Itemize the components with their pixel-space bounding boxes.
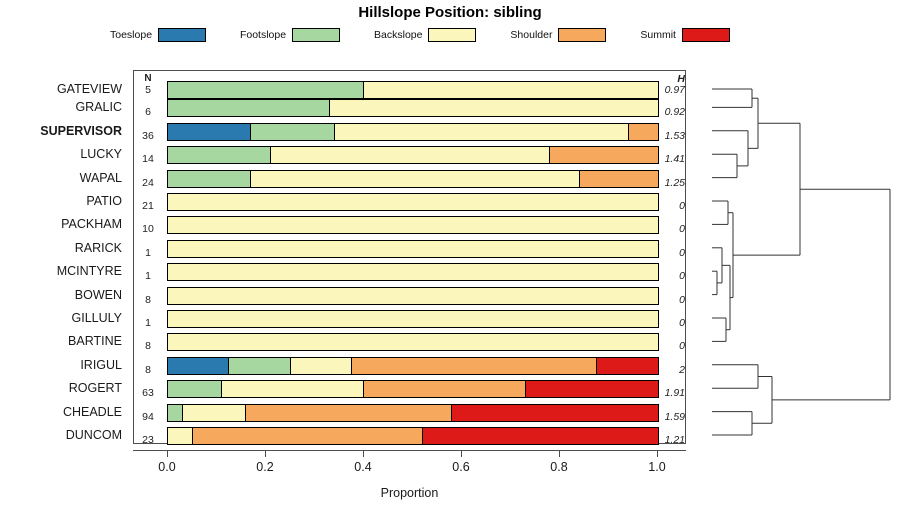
y-axis-label-supervisor: SUPERVISOR bbox=[40, 125, 122, 138]
y-axis-label-packham: PACKHAM bbox=[61, 218, 122, 231]
x-axis-title: Proportion bbox=[133, 486, 686, 500]
table-row: 141.41 bbox=[133, 143, 686, 166]
table-row: 100 bbox=[133, 213, 686, 236]
table-row: 60.92 bbox=[133, 96, 686, 119]
y-axis-label-rogert: ROGERT bbox=[69, 382, 122, 395]
row-count-value: 24 bbox=[133, 178, 163, 189]
table-row: 80 bbox=[133, 284, 686, 307]
row-count-value: 23 bbox=[133, 435, 163, 446]
stacked-bar[interactable] bbox=[167, 263, 659, 281]
bar-segment-backslope[interactable] bbox=[330, 100, 658, 116]
y-axis-label-bartine: BARTINE bbox=[68, 335, 122, 348]
bar-segment-toeslope[interactable] bbox=[168, 358, 229, 374]
y-axis-label-duncom: DUNCOM bbox=[66, 429, 122, 442]
chart-canvas: Hillslope Position: sibling Toeslope Foo… bbox=[0, 0, 900, 520]
table-row: 10 bbox=[133, 260, 686, 283]
stacked-bar[interactable] bbox=[167, 146, 659, 164]
legend: Toeslope Footslope Backslope Shoulder Su… bbox=[110, 26, 730, 44]
bar-segment-backslope[interactable] bbox=[168, 264, 658, 280]
x-axis-tick bbox=[363, 450, 364, 457]
row-count-value: 6 bbox=[133, 107, 163, 118]
stacked-bar[interactable] bbox=[167, 404, 659, 422]
row-count-value: 94 bbox=[133, 412, 163, 423]
legend-item-toeslope: Toeslope bbox=[110, 28, 206, 42]
stacked-bar[interactable] bbox=[167, 310, 659, 328]
table-row: 210 bbox=[133, 190, 686, 213]
legend-label: Footslope bbox=[240, 29, 286, 41]
bar-segment-backslope[interactable] bbox=[291, 358, 352, 374]
table-row: 5NH0.97 bbox=[133, 73, 686, 96]
bar-segment-backslope[interactable] bbox=[271, 147, 550, 163]
bar-segment-backslope[interactable] bbox=[168, 428, 193, 444]
legend-swatch-footslope bbox=[292, 28, 340, 42]
table-row: 941.59 bbox=[133, 401, 686, 424]
bar-segment-backslope[interactable] bbox=[168, 288, 658, 304]
x-axis-tick-label: 0.4 bbox=[333, 460, 393, 474]
row-count-value: 10 bbox=[133, 224, 163, 235]
row-entropy-value: 0.92 bbox=[641, 107, 685, 118]
x-axis-tick bbox=[167, 450, 168, 457]
bar-segment-footslope[interactable] bbox=[168, 171, 251, 187]
bar-segment-footslope[interactable] bbox=[251, 124, 334, 140]
bar-segment-footslope[interactable] bbox=[168, 100, 330, 116]
bar-segment-shoulder[interactable] bbox=[352, 358, 597, 374]
table-row: 631.91 bbox=[133, 377, 686, 400]
table-row: 82 bbox=[133, 354, 686, 377]
y-axis-label-patio: PATIO bbox=[86, 195, 122, 208]
row-entropy-value: 1.25 bbox=[641, 178, 685, 189]
legend-item-shoulder: Shoulder bbox=[510, 28, 606, 42]
bar-segment-shoulder[interactable] bbox=[246, 405, 452, 421]
x-axis-tick-label: 1.0 bbox=[627, 460, 687, 474]
bar-segment-backslope[interactable] bbox=[168, 334, 658, 350]
y-axis-label-gilluly: GILLULY bbox=[72, 312, 123, 325]
y-axis-label-gralic: GRALIC bbox=[75, 101, 122, 114]
page-title: Hillslope Position: sibling bbox=[0, 4, 900, 21]
bar-segment-backslope[interactable] bbox=[168, 217, 658, 233]
row-entropy-value: 2 bbox=[641, 365, 685, 376]
row-count-value: 8 bbox=[133, 341, 163, 352]
stacked-bar[interactable] bbox=[167, 427, 659, 445]
legend-swatch-backslope bbox=[428, 28, 476, 42]
x-axis-tick-label: 0.0 bbox=[137, 460, 197, 474]
table-row: 10 bbox=[133, 307, 686, 330]
dendrogram bbox=[690, 70, 895, 444]
y-axis-labels: GATEVIEWGRALICSUPERVISORLUCKYWAPALPATIOP… bbox=[0, 70, 128, 444]
row-entropy-value: 0 bbox=[641, 318, 685, 329]
legend-label: Toeslope bbox=[110, 29, 152, 41]
row-count-value: 8 bbox=[133, 365, 163, 376]
legend-item-backslope: Backslope bbox=[374, 28, 476, 42]
y-axis-label-lucky: LUCKY bbox=[80, 148, 122, 161]
bar-segment-footslope[interactable] bbox=[168, 381, 222, 397]
stacked-bar-rows: 5NH0.9760.92361.53141.41241.252101001010… bbox=[133, 70, 686, 444]
stacked-bar[interactable] bbox=[167, 123, 659, 141]
row-entropy-value: 0 bbox=[641, 271, 685, 282]
stacked-bar[interactable] bbox=[167, 170, 659, 188]
column-header-n: N bbox=[133, 74, 163, 84]
stacked-bar[interactable] bbox=[167, 287, 659, 305]
stacked-bar[interactable] bbox=[167, 357, 659, 375]
row-entropy-value: 0 bbox=[641, 341, 685, 352]
y-axis-label-gateview: GATEVIEW bbox=[57, 83, 122, 96]
legend-label: Shoulder bbox=[510, 29, 552, 41]
table-row: 231.21 bbox=[133, 424, 686, 447]
stacked-bar[interactable] bbox=[167, 99, 659, 117]
bar-segment-backslope[interactable] bbox=[183, 405, 247, 421]
row-count-value: 63 bbox=[133, 388, 163, 399]
x-axis-tick bbox=[265, 450, 266, 457]
y-axis-label-wapal: WAPAL bbox=[80, 172, 122, 185]
row-entropy-value: 0 bbox=[641, 248, 685, 259]
x-axis-tick-label: 0.8 bbox=[529, 460, 589, 474]
bar-segment-footslope[interactable] bbox=[168, 147, 271, 163]
bar-segment-shoulder[interactable] bbox=[364, 381, 526, 397]
row-entropy-value: 1.91 bbox=[641, 388, 685, 399]
stacked-bar[interactable] bbox=[167, 216, 659, 234]
x-axis-tick-label: 0.2 bbox=[235, 460, 295, 474]
legend-item-footslope: Footslope bbox=[240, 28, 340, 42]
table-row: 80 bbox=[133, 330, 686, 353]
x-axis-tick bbox=[461, 450, 462, 457]
bar-segment-footslope[interactable] bbox=[229, 358, 290, 374]
y-axis-label-rarick: RARICK bbox=[75, 242, 122, 255]
legend-swatch-shoulder bbox=[558, 28, 606, 42]
stacked-bar[interactable] bbox=[167, 333, 659, 351]
x-axis-tick-label: 0.6 bbox=[431, 460, 491, 474]
table-row: 361.53 bbox=[133, 120, 686, 143]
row-entropy-value: 1.59 bbox=[641, 412, 685, 423]
legend-swatch-toeslope bbox=[158, 28, 206, 42]
legend-label: Backslope bbox=[374, 29, 422, 41]
row-entropy-value: 1.53 bbox=[641, 131, 685, 142]
row-count-value: 1 bbox=[133, 318, 163, 329]
row-entropy-value: 0 bbox=[641, 224, 685, 235]
stacked-bar[interactable] bbox=[167, 380, 659, 398]
row-count-value: 21 bbox=[133, 201, 163, 212]
bar-segment-summit[interactable] bbox=[526, 381, 658, 397]
y-axis-label-cheadle: CHEADLE bbox=[63, 406, 122, 419]
row-entropy-value: 0 bbox=[641, 295, 685, 306]
row-count-value: 14 bbox=[133, 154, 163, 165]
x-axis-tick bbox=[657, 450, 658, 457]
bar-segment-backslope[interactable] bbox=[251, 171, 579, 187]
bar-segment-shoulder[interactable] bbox=[193, 428, 423, 444]
row-count-value: 5 bbox=[133, 85, 163, 96]
stacked-bar[interactable] bbox=[167, 240, 659, 258]
bar-segment-summit[interactable] bbox=[423, 428, 658, 444]
x-axis-tick bbox=[559, 450, 560, 457]
table-row: 241.25 bbox=[133, 167, 686, 190]
y-axis-label-mcintyre: MCINTYRE bbox=[57, 265, 122, 278]
row-entropy-value: 0.97 bbox=[641, 85, 685, 96]
bar-segment-backslope[interactable] bbox=[335, 124, 629, 140]
bar-segment-footslope[interactable] bbox=[168, 405, 183, 421]
x-axis: 0.00.20.40.60.81.0 bbox=[133, 450, 686, 490]
stacked-bar[interactable] bbox=[167, 193, 659, 211]
row-entropy-value: 0 bbox=[641, 201, 685, 212]
legend-swatch-summit bbox=[682, 28, 730, 42]
row-count-value: 1 bbox=[133, 248, 163, 259]
table-row: 10 bbox=[133, 237, 686, 260]
row-count-value: 36 bbox=[133, 131, 163, 142]
bar-segment-backslope[interactable] bbox=[168, 311, 658, 327]
bar-segment-backslope[interactable] bbox=[168, 194, 658, 210]
row-entropy-value: 1.21 bbox=[641, 435, 685, 446]
y-axis-label-bowen: BOWEN bbox=[75, 289, 122, 302]
y-axis-label-irigul: IRIGUL bbox=[80, 359, 122, 372]
legend-item-summit: Summit bbox=[640, 28, 730, 42]
row-count-value: 8 bbox=[133, 295, 163, 306]
bar-segment-backslope[interactable] bbox=[222, 381, 364, 397]
bar-segment-summit[interactable] bbox=[452, 405, 658, 421]
bar-segment-backslope[interactable] bbox=[168, 241, 658, 257]
row-entropy-value: 1.41 bbox=[641, 154, 685, 165]
row-count-value: 1 bbox=[133, 271, 163, 282]
bar-segment-toeslope[interactable] bbox=[168, 124, 251, 140]
x-axis-line bbox=[133, 450, 686, 451]
legend-label: Summit bbox=[640, 29, 676, 41]
